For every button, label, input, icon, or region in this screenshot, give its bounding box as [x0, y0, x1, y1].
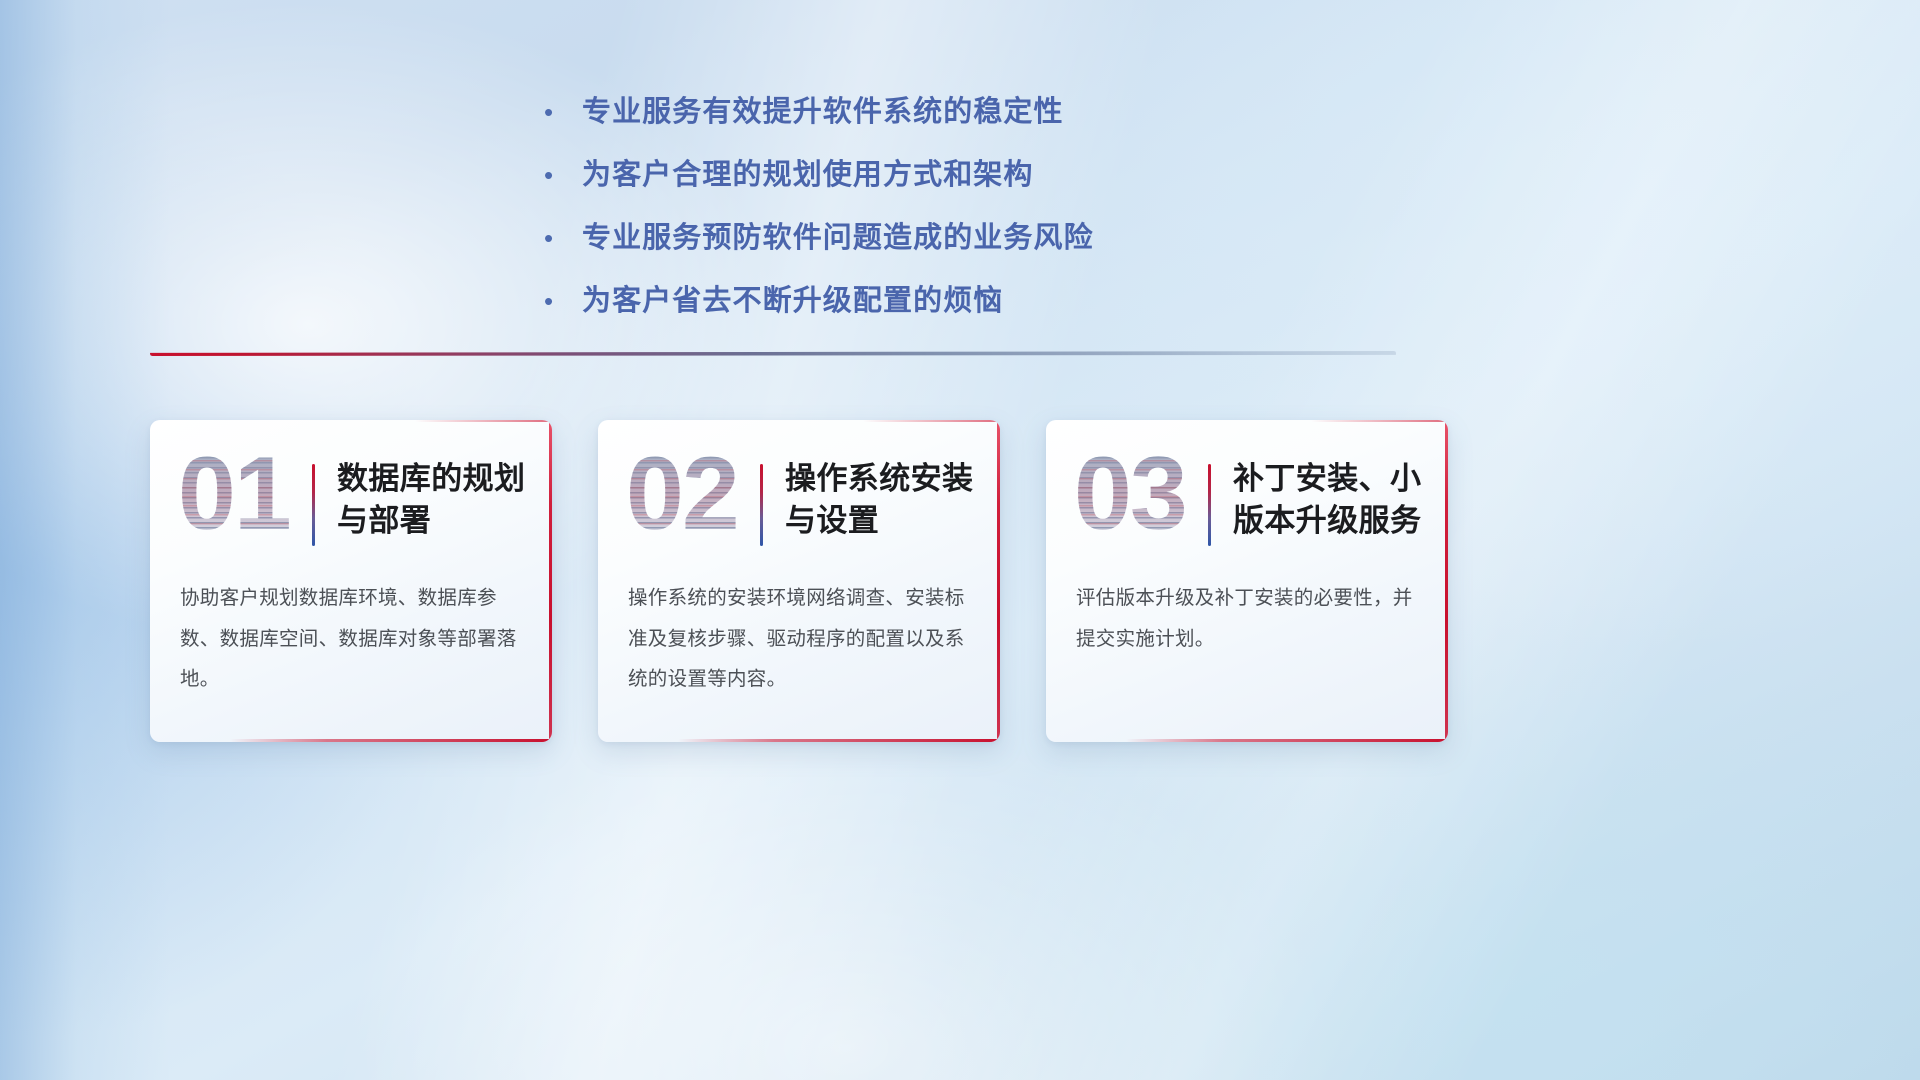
bullet-text: 为客户省去不断升级配置的烦恼 — [582, 277, 1003, 319]
card-header: 02 02 操作系统安装与设置 — [598, 420, 1000, 572]
service-card-group: 01 01 数据库的规划与部署 协助客户规划数据库环境、数据库参数、数据库空间、… — [150, 420, 1450, 745]
card-description: 评估版本升级及补丁安装的必要性，并提交实施计划。 — [1046, 572, 1448, 659]
card-description: 协助客户规划数据库环境、数据库参数、数据库空间、数据库对象等部署落地。 — [150, 572, 552, 700]
bullet-dot-icon: • — [538, 162, 582, 188]
bullet-text: 专业服务有效提升软件系统的稳定性 — [582, 88, 1064, 130]
divider-line — [150, 351, 1396, 356]
bullet-dot-icon: • — [538, 225, 582, 251]
card-title: 操作系统安装与设置 — [785, 450, 978, 541]
benefits-bullet-list: • 专业服务有效提升软件系统的稳定性 • 为客户合理的规划使用方式和架构 • 专… — [538, 88, 1298, 340]
card-title: 数据库的规划与部署 — [337, 450, 530, 541]
card-number-glyph-tint: 02 — [626, 442, 738, 546]
card-description: 操作系统的安装环境网络调查、安装标准及复核步骤、驱动程序的配置以及系统的设置等内… — [598, 572, 1000, 700]
service-card[interactable]: 03 03 补丁安装、小版本升级服务 评估版本升级及补丁安装的必要性，并提交实施… — [1046, 420, 1448, 742]
bullet-text: 为客户合理的规划使用方式和架构 — [582, 151, 1034, 193]
slide-canvas: • 专业服务有效提升软件系统的稳定性 • 为客户合理的规划使用方式和架构 • 专… — [0, 0, 1920, 1080]
card-number-watermark: 01 01 — [178, 458, 306, 562]
card-edge-bottom — [678, 739, 1000, 742]
card-number-watermark: 03 03 — [1074, 458, 1202, 562]
card-title: 补丁安装、小版本升级服务 — [1233, 450, 1426, 541]
card-header: 01 01 数据库的规划与部署 — [150, 420, 552, 572]
card-number-watermark: 02 02 — [626, 458, 754, 562]
card-header: 03 03 补丁安装、小版本升级服务 — [1046, 420, 1448, 572]
card-accent-rule — [760, 464, 763, 546]
bullet-dot-icon: • — [538, 99, 582, 125]
list-item: • 专业服务预防软件问题造成的业务风险 — [538, 214, 1298, 277]
service-card[interactable]: 02 02 操作系统安装与设置 操作系统的安装环境网络调查、安装标准及复核步骤、… — [598, 420, 1000, 742]
card-edge-bottom — [230, 739, 552, 742]
section-divider — [150, 347, 1396, 363]
service-card[interactable]: 01 01 数据库的规划与部署 协助客户规划数据库环境、数据库参数、数据库空间、… — [150, 420, 552, 742]
list-item: • 为客户合理的规划使用方式和架构 — [538, 151, 1298, 214]
bullet-dot-icon: • — [538, 288, 582, 314]
card-edge-bottom — [1126, 739, 1448, 742]
bullet-text: 专业服务预防软件问题造成的业务风险 — [582, 214, 1094, 256]
list-item: • 专业服务有效提升软件系统的稳定性 — [538, 88, 1298, 151]
card-number-glyph-tint: 01 — [178, 442, 290, 546]
card-number-glyph-tint: 03 — [1074, 442, 1186, 546]
card-accent-rule — [312, 464, 315, 546]
card-accent-rule — [1208, 464, 1211, 546]
list-item: • 为客户省去不断升级配置的烦恼 — [538, 277, 1298, 340]
